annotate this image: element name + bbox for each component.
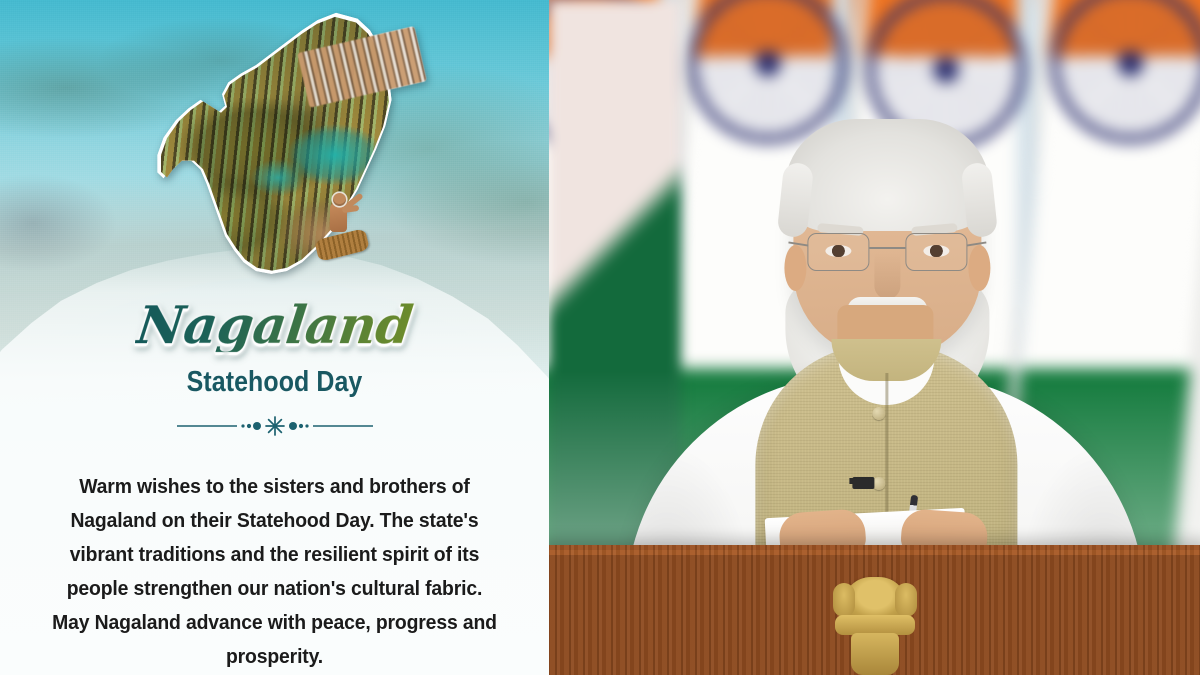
- nagaland-map-cutout: [146, 14, 446, 296]
- wooden-podium: [549, 545, 1200, 675]
- drummer-arm-lower: [342, 205, 360, 213]
- prime-minister-photo: [549, 0, 1200, 675]
- lapel-microphone-icon: [852, 477, 874, 489]
- card-titles: Nagaland Statehood Day: [0, 300, 549, 437]
- starburst-divider-icon: [175, 415, 375, 437]
- greeting-message: Warm wishes to the sisters and brothers …: [46, 470, 503, 674]
- page-title: Nagaland: [134, 300, 415, 352]
- state-emblem-of-india-icon: [829, 571, 921, 675]
- log-drum-icon: [314, 228, 370, 262]
- nose: [874, 253, 900, 299]
- glasses-bridge: [869, 247, 905, 249]
- greeting-graphic: Nagaland Statehood Day Warm wishes: [0, 0, 1200, 675]
- map-sticker: [146, 14, 446, 296]
- page-subtitle: Statehood Day: [38, 366, 510, 399]
- drummer-head: [333, 193, 346, 206]
- lens-left: [807, 233, 869, 271]
- jacket-button: [872, 407, 885, 420]
- emblem-abacus: [835, 615, 915, 635]
- hair: [784, 119, 990, 231]
- podium-top-edge: [549, 545, 1200, 558]
- lens-right: [905, 233, 967, 271]
- emblem-base: [851, 633, 899, 675]
- log-drummer-figure: [314, 192, 374, 258]
- ear-left: [784, 245, 806, 291]
- nagaland-greeting-card: Nagaland Statehood Day Warm wishes: [0, 0, 549, 675]
- ear-right: [968, 245, 990, 291]
